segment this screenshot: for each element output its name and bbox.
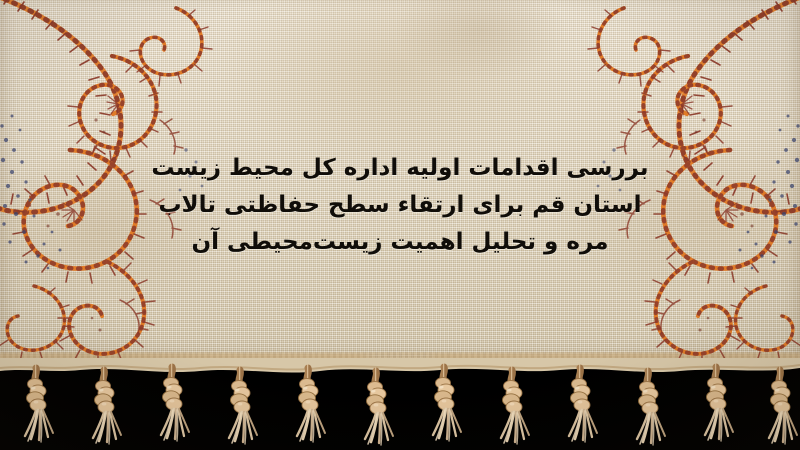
- title-line-2: استان قم برای ارتقاء سطح حفاظتی تالاب: [0, 187, 800, 224]
- title-line-1: بررسی اقدامات اولیه اداره کل محیط زیست: [0, 150, 800, 187]
- title-block: بررسی اقدامات اولیه اداره کل محیط زیست ا…: [0, 150, 800, 261]
- fringe-row: [0, 358, 800, 450]
- title-line-3: مره و تحلیل اهمیت زیست‌محیطی آن: [0, 224, 800, 261]
- textile-title-card: بررسی اقدامات اولیه اداره کل محیط زیست ا…: [0, 0, 800, 450]
